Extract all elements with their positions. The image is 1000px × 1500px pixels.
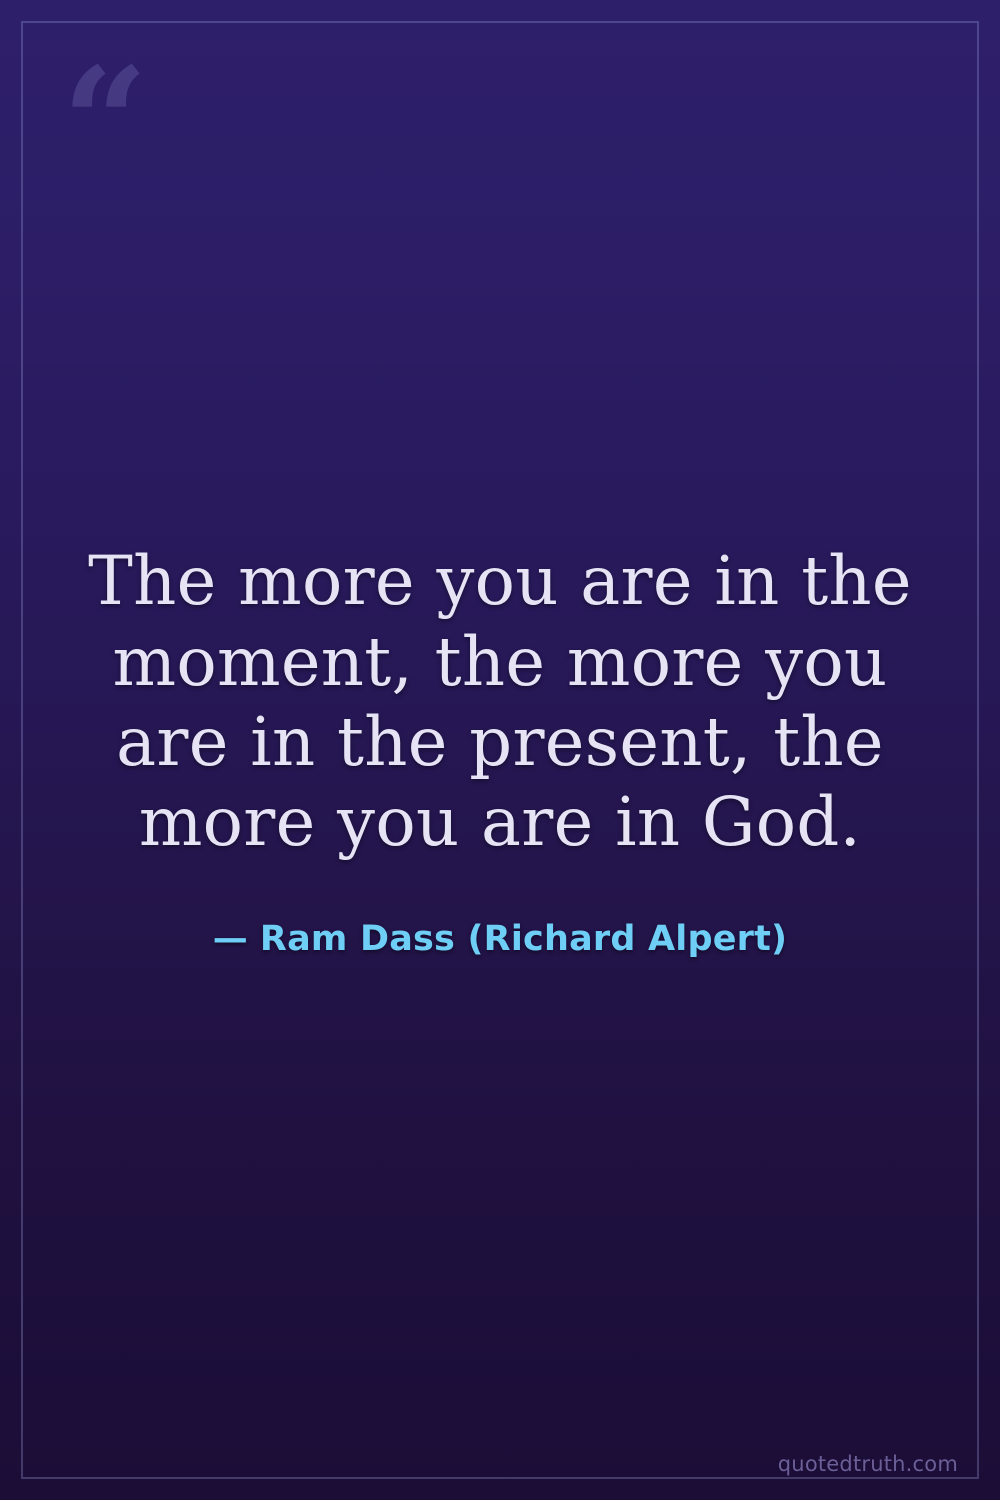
quote-attribution: —Ram Dass (Richard Alpert) [213, 919, 788, 959]
site-watermark: quotedtruth.com [778, 1452, 958, 1476]
quote-card: “ The more you are in the moment, the mo… [0, 0, 1000, 1500]
quote-content: The more you are in the moment, the more… [0, 0, 1000, 1500]
attribution-dash: — [213, 919, 248, 959]
quote-text: The more you are in the moment, the more… [78, 541, 922, 863]
attribution-author: Ram Dass (Richard Alpert) [260, 919, 787, 959]
